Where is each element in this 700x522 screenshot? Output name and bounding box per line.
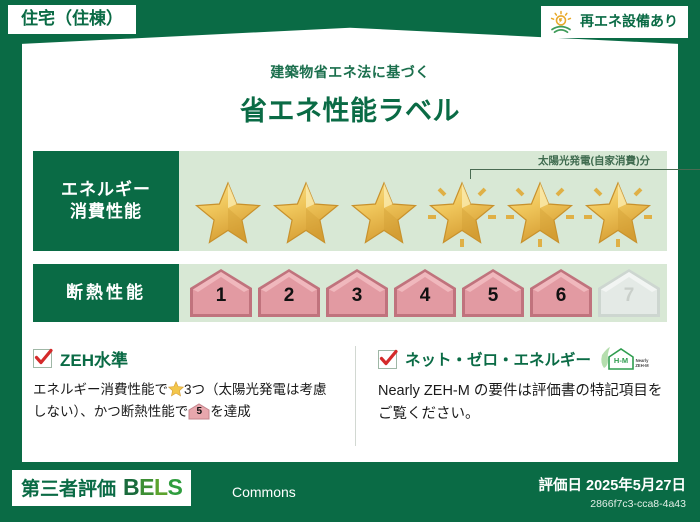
label-subtitle: 建築物省エネ法に基づく — [0, 62, 700, 82]
insulation-grade-1: 1 — [188, 266, 254, 320]
insulation-grade-scale: 1 2 3 4 5 — [179, 264, 667, 322]
commons-label: Commons — [232, 484, 296, 500]
renewable-equipment-badge: 再エネ設備あり — [541, 6, 688, 38]
inline-star-icon — [168, 381, 184, 397]
inline-house-grade: 5 — [188, 407, 210, 417]
insulation-performance-body: 1 2 3 4 5 — [179, 264, 667, 322]
insulation-grade-number: 3 — [324, 286, 390, 305]
solar-sun-icon — [548, 10, 574, 34]
insulation-grade-3: 3 — [324, 266, 390, 320]
nearly-zeh-m-logo: H-M Nearly ZEH-M — [599, 346, 651, 372]
insulation-grade-7: 7 — [596, 266, 662, 320]
criteria-notes: ZEH水準 エネルギー消費性能で 3つ（太陽光発電は考慮しない）、かつ断熱性能で… — [33, 346, 667, 446]
evaluation-date: 評価日 2025年5月27日 — [539, 474, 686, 495]
zeh-standard-note: ZEH水準 エネルギー消費性能で 3つ（太陽光発電は考慮しない）、かつ断熱性能で… — [33, 346, 355, 446]
zeh-body-part3: を達成 — [210, 404, 251, 419]
star-6 — [579, 177, 657, 249]
renewable-equipment-label: 再エネ設備あり — [580, 14, 678, 29]
building-type-label: 住宅（住棟） — [21, 9, 123, 29]
zeh-body-part1: エネルギー消費性能で — [33, 382, 168, 397]
star-3 — [345, 177, 423, 249]
energy-performance-row: エネルギー 消費性能 太陽光発電(自家消費)分 — [33, 151, 667, 251]
net-zero-energy-heading: ネット・ゼロ・エネルギー H-M Nearly ZEH-M — [378, 346, 667, 372]
insulation-grade-number: 4 — [392, 286, 458, 305]
insulation-grade-number: 1 — [188, 286, 254, 305]
bels-wordmark: BELS — [123, 474, 182, 501]
star-1 — [189, 177, 267, 249]
zeh-standard-heading: ZEH水準 — [33, 346, 339, 371]
bels-letter: S — [168, 474, 183, 500]
building-type-tag: 住宅（住棟） — [8, 5, 136, 34]
insulation-grade-number: 2 — [256, 286, 322, 305]
insulation-grade-4: 4 — [392, 266, 458, 320]
label-main-title: 省エネ性能ラベル — [0, 89, 700, 128]
net-zero-energy-body: Nearly ZEH-M の要件は評価書の特記項目をご覧ください。 — [378, 380, 667, 426]
star-5 — [501, 177, 579, 249]
insulation-grade-number: 7 — [596, 286, 662, 305]
bels-letter: B — [123, 474, 139, 500]
star-2 — [267, 177, 345, 249]
net-zero-energy-title: ネット・ゼロ・エネルギー — [405, 348, 591, 370]
title-block: 建築物省エネ法に基づく 省エネ性能ラベル — [0, 62, 700, 128]
insulation-grade-6: 6 — [528, 266, 594, 320]
svg-text:H-M: H-M — [614, 356, 628, 365]
solar-portion-note: 太陽光発電(自家消費)分 — [469, 153, 700, 168]
checkbox-checked-icon — [33, 349, 52, 368]
bels-letter: E — [139, 474, 154, 500]
footer: 第三者評価 BELS Commons 評価日 2025年5月27日 2866f7… — [0, 462, 700, 522]
net-zero-energy-note: ネット・ゼロ・エネルギー H-M Nearly ZEH-M Nearly ZEH… — [355, 346, 667, 446]
inline-house-badge: 5 — [188, 403, 210, 420]
evaluation-info: 評価日 2025年5月27日 2866f7c3-cca8-4a43 — [539, 474, 686, 510]
insulation-grade-5: 5 — [460, 266, 526, 320]
bels-certification-logo: 第三者評価 BELS — [12, 470, 191, 506]
energy-label-line2: 消費性能 — [70, 201, 142, 223]
zeh-standard-body: エネルギー消費性能で 3つ（太陽光発電は考慮しない）、かつ断熱性能で 5 を達成 — [33, 379, 339, 423]
insulation-performance-row: 断熱性能 1 2 3 4 — [33, 264, 667, 322]
zeh-standard-title: ZEH水準 — [60, 346, 128, 371]
insulation-performance-label: 断熱性能 — [33, 264, 179, 322]
evaluation-id: 2866f7c3-cca8-4a43 — [539, 498, 686, 510]
insulation-grade-2: 2 — [256, 266, 322, 320]
bels-letter: L — [154, 474, 168, 500]
energy-performance-body: 太陽光発電(自家消費)分 — [179, 151, 667, 251]
star-4 — [423, 177, 501, 249]
checkbox-checked-icon — [378, 350, 397, 369]
insulation-grade-number: 5 — [460, 286, 526, 305]
insulation-grade-number: 6 — [528, 286, 594, 305]
star-rating — [179, 177, 667, 249]
energy-label-poster: 住宅（住棟） 再エネ設備あり 建築物省エネ法に基づく 省エネ性能ラベル エネルギ… — [0, 0, 700, 522]
svg-text:ZEH-M: ZEH-M — [635, 363, 649, 368]
energy-performance-label: エネルギー 消費性能 — [33, 151, 179, 251]
energy-label-line1: エネルギー — [61, 179, 151, 201]
third-party-eval-label: 第三者評価 — [21, 474, 116, 501]
